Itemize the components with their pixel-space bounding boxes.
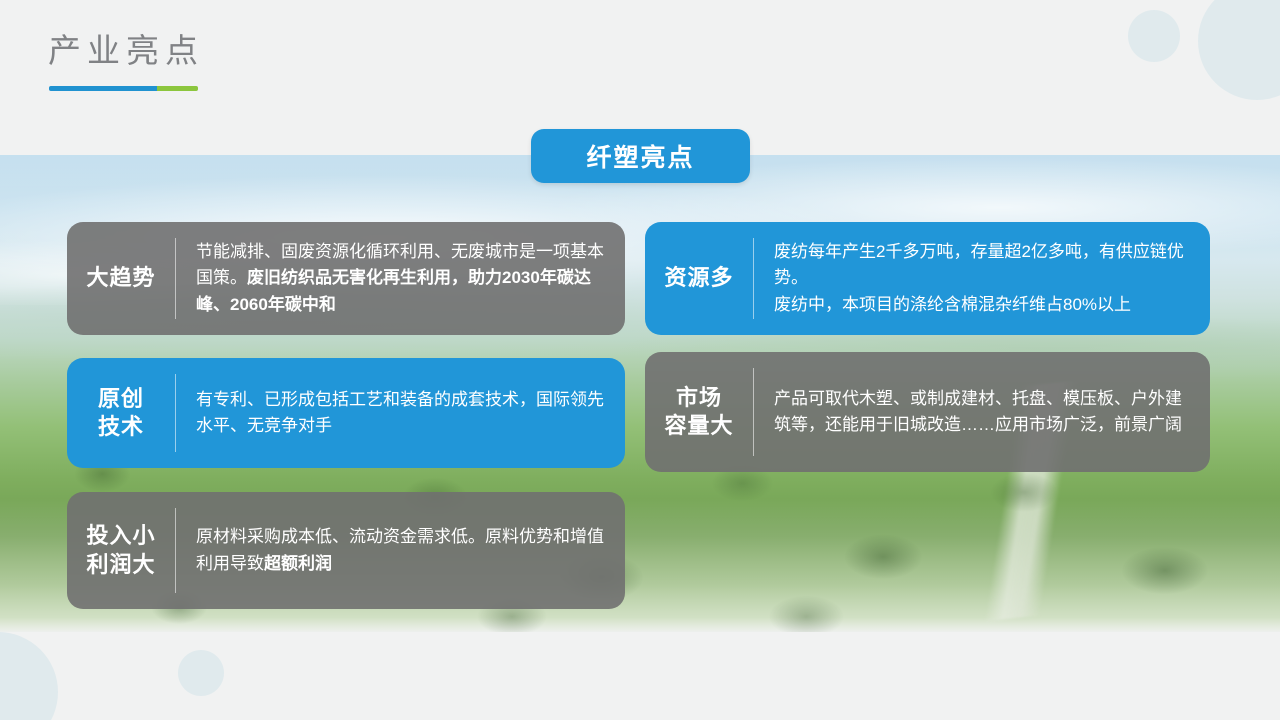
title-underline xyxy=(49,86,198,91)
highlight-card-resource[interactable]: 资源多 废纺每年产生2千多万吨，存量超2亿多吨，有供应链优势。废纺中，本项目的涤… xyxy=(645,222,1210,335)
highlight-card-body: 废纺每年产生2千多万吨，存量超2亿多吨，有供应链优势。废纺中，本项目的涤纶含棉混… xyxy=(754,239,1210,318)
highlight-card-label: 市场 容量大 xyxy=(645,384,753,440)
circle-bottom-left-small-icon xyxy=(178,650,224,696)
section-badge[interactable]: 纤塑亮点 xyxy=(531,129,750,183)
section-badge-label: 纤塑亮点 xyxy=(586,138,694,174)
circle-top-right-large-icon xyxy=(1198,0,1280,100)
page-title: 产业亮点 xyxy=(48,24,204,72)
highlight-card-body: 产品可取代木塑、或制成建材、托盘、模压板、户外建筑等，还能用于旧城改造……应用市… xyxy=(754,386,1210,439)
circle-bottom-left-large-icon xyxy=(0,632,58,720)
highlight-card-body: 有专利、已形成包括工艺和装备的成套技术，国际领先水平、无竞争对手 xyxy=(176,387,625,440)
highlight-card-technology[interactable]: 原创 技术 有专利、已形成包括工艺和装备的成套技术，国际领先水平、无竞争对手 xyxy=(67,358,625,468)
title-underline-green-segment xyxy=(157,86,198,91)
title-underline-blue-segment xyxy=(49,86,157,91)
highlight-card-label: 原创 技术 xyxy=(67,385,175,441)
slide-canvas: 产业亮点 纤塑亮点 大趋势 节能减排、固废资源化循环利用、无废城市是一项基本国策… xyxy=(0,0,1280,720)
highlight-card-trend[interactable]: 大趋势 节能减排、固废资源化循环利用、无废城市是一项基本国策。废旧纺织品无害化再… xyxy=(67,222,625,335)
highlight-card-label: 资源多 xyxy=(645,264,753,292)
highlight-card-body: 节能减排、固废资源化循环利用、无废城市是一项基本国策。废旧纺织品无害化再生利用，… xyxy=(176,239,625,318)
highlight-card-label: 大趋势 xyxy=(67,264,175,292)
highlight-card-body: 原材料采购成本低、流动资金需求低。原料优势和增值利用导致超额利润 xyxy=(176,524,625,577)
highlight-card-market[interactable]: 市场 容量大 产品可取代木塑、或制成建材、托盘、模压板、户外建筑等，还能用于旧城… xyxy=(645,352,1210,472)
circle-top-right-small-icon xyxy=(1128,10,1180,62)
highlight-card-profit[interactable]: 投入小 利润大 原材料采购成本低、流动资金需求低。原料优势和增值利用导致超额利润 xyxy=(67,492,625,609)
highlight-card-label: 投入小 利润大 xyxy=(67,522,175,578)
